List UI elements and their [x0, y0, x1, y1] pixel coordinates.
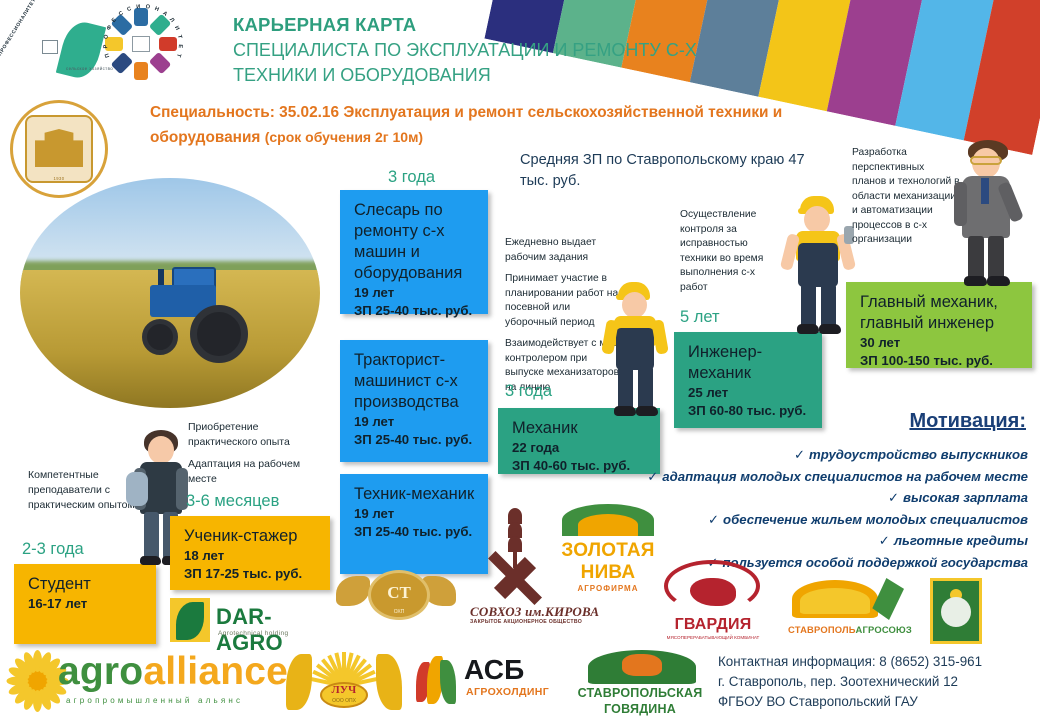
- logo-stavropol-agrosouz: СТАВРОПОЛЬАГРОСОЮЗ: [788, 578, 912, 642]
- contact-org-line: ФГБОУ ВО Ставропольский ГАУ: [718, 692, 1038, 712]
- card-student-role: Студент: [28, 574, 144, 595]
- card-technician-role: Техник-механик: [354, 484, 476, 505]
- chief-tie: [981, 178, 989, 204]
- trade-oval: СТ ОХП: [368, 570, 430, 620]
- wheel-arc-letter: О: [145, 4, 150, 10]
- wheel-arc-letter: Е: [111, 17, 118, 24]
- chief-shoe-left: [964, 276, 987, 286]
- wheel-arc-letter: Т: [175, 53, 182, 58]
- trade-monogram: СТ: [371, 583, 427, 603]
- engineer-leg-left: [801, 284, 816, 328]
- wheel-arc-letter: С: [126, 6, 132, 13]
- logo-asb: АСБ АГРОХОЛДИНГ: [416, 652, 556, 710]
- card-trainee[interactable]: Ученик-стажер 18 лет ЗП 17-25 тыс. руб.: [170, 516, 330, 590]
- motivation-title: Мотивация:: [909, 410, 1026, 433]
- card-technician-age: 19 лет: [354, 505, 476, 523]
- student-head: [148, 436, 174, 464]
- chief-illustration: [948, 140, 1026, 290]
- wheel-arc-letter: П: [104, 53, 111, 59]
- page-subtitle: СПЕЦИАЛИСТА ПО ЭКСПЛУАТАЦИИ И РЕМОНТУ С-…: [233, 38, 713, 88]
- mechanic-shoe-left: [614, 406, 636, 416]
- trainee-note-2: Адаптация на рабочем месте: [188, 457, 318, 487]
- tractor-rear-wheel: [190, 305, 248, 363]
- card-engineer-age: 25 лет: [688, 384, 810, 402]
- wheel-arc-letter: Ф: [106, 24, 113, 31]
- mechanic-duty-1: Ежедневно выдает рабочим задания: [505, 236, 625, 265]
- wheel-arc-letter: Л: [168, 17, 175, 24]
- mechanic-leg-left: [618, 366, 633, 410]
- chief-arm-left: [954, 182, 967, 226]
- contact-address-line: г. Ставрополь, пер. Зоотехнический 12: [718, 672, 1038, 692]
- wheel-arc-letter: А: [161, 10, 168, 17]
- niva-line1: ЗОЛОТАЯ: [556, 540, 660, 562]
- wheel-arc-letter: Т: [176, 35, 183, 39]
- engineer-duty-1: Осуществление контроля за исправностью т…: [680, 208, 784, 295]
- gvardiya-name: ГВАРДИЯ: [660, 616, 766, 634]
- chief-duties: Разработка перспективных планов и технол…: [852, 146, 960, 255]
- motivation-item-text: адаптация молодых специалистов на рабоче…: [662, 469, 1028, 484]
- sovhoz-sub: ЗАКРЫТОЕ АКЦИОНЕРНОЕ ОБЩЕСТВО: [470, 619, 582, 625]
- logo-emblem-box: [42, 40, 58, 54]
- agroalliance-part2: alliance: [143, 650, 288, 693]
- card-engineer-role: Инженер-механик: [688, 342, 810, 384]
- card-tractor-driver-salary: ЗП 25-40 тыс. руб.: [354, 431, 476, 449]
- engineer-leg-right: [821, 284, 836, 328]
- card-tractor-driver-age: 19 лет: [354, 413, 476, 431]
- motivation-item-text: высокая зарплата: [903, 490, 1028, 505]
- motivation-item: ✓обеспечение жильем молодых специалистов: [608, 509, 1028, 531]
- minselhoz-shield-icon: [930, 578, 982, 644]
- motivation-item: ✓льготные кредиты: [608, 530, 1028, 552]
- chief-duty-1: Разработка перспективных планов и технол…: [852, 146, 960, 248]
- minselhoz-eagle-icon: [941, 597, 971, 627]
- check-icon: ✓: [708, 512, 719, 527]
- tractor-front-wheel: [142, 319, 178, 355]
- speciality-text-2: оборудования: [150, 129, 260, 146]
- contact-block: Контактная информация: 8 (8652) 315-961 …: [718, 652, 1038, 712]
- engineer-shoe-right: [819, 324, 841, 334]
- logo-prof-leaf-caption: ПРОФЕССИОНАЛИТЕТ: [0, 16, 75, 87]
- agrosouz-part2: АГРОСОЮЗ: [856, 624, 912, 635]
- card-chief-role-1: Главный механик,: [860, 292, 1020, 313]
- card-engineer[interactable]: Инженер-механик 25 лет ЗП 60-80 тыс. руб…: [674, 332, 822, 428]
- mechanic-illustration: [600, 282, 672, 420]
- card-locksmith-age: 19 лет: [354, 284, 476, 302]
- card-student[interactable]: Студент 16-17 лет: [14, 564, 156, 644]
- sovhoz-wheat-icon: [504, 508, 526, 564]
- wheel-arc-letter: Н: [154, 6, 160, 13]
- check-icon: ✓: [888, 490, 899, 505]
- luch-sub: ООО ОПХ: [320, 698, 368, 704]
- govyadina-cow-icon: [622, 654, 662, 676]
- speciality-duration: (срок обучения 2г 10м): [265, 129, 423, 145]
- engineer-overalls: [798, 243, 838, 287]
- tractor-illustration: [128, 279, 246, 351]
- motivation-item: ✓трудоустройство выпускников: [608, 444, 1028, 466]
- logo-zolotaya-niva: ЗОЛОТАЯ НИВА АГРОФИРМА: [548, 504, 668, 600]
- card-tractor-driver-role: Тракторист-машинист с-х производства: [354, 350, 476, 413]
- logo-stavropol-trade: СТ ОХП: [336, 562, 456, 624]
- card-locksmith-role: Слесарь по ремонту с-х машин и оборудова…: [354, 200, 476, 284]
- sovhoz-name: СОВХОЗ им.КИРОВА: [470, 604, 599, 620]
- mechanic-years: 3 года: [505, 382, 552, 401]
- agroalliance-part1: agro: [58, 650, 143, 693]
- card-trainee-salary: ЗП 17-25 тыс. руб.: [184, 565, 318, 583]
- card-technician[interactable]: Техник-механик 19 лет ЗП 25-40 тыс. руб.: [340, 474, 488, 574]
- motivation-item-text: пользуется особой поддержкой государства: [722, 555, 1028, 570]
- logo-minselhoz: [930, 578, 982, 644]
- wheel-arc-letter: И: [136, 4, 141, 10]
- motivation-item: ✓адаптация молодых специалистов на рабоч…: [608, 466, 1028, 488]
- chief-leg-right: [988, 236, 1004, 280]
- card-trainee-role: Ученик-стажер: [184, 526, 318, 547]
- asb-name: АСБ: [464, 654, 524, 686]
- card-locksmith-salary: ЗП 25-40 тыс. руб.: [354, 302, 476, 320]
- logo-professionalitet-wheel: ПРОФЕССИОНАЛИТЕТ: [105, 8, 177, 80]
- engineer-shoe-left: [797, 324, 819, 334]
- chief-shoe-right: [987, 276, 1010, 286]
- trade-wing-left: [336, 576, 370, 606]
- speciality-text-1: Специальность: 35.02.16 Эксплуатация и р…: [150, 104, 782, 121]
- asb-sub: АГРОХОЛДИНГ: [466, 686, 549, 698]
- trade-sub: ОХП: [371, 609, 427, 615]
- wheel-arc-letter: И: [173, 25, 180, 31]
- niva-line2: НИВА: [556, 562, 660, 584]
- engineer-years: 5 лет: [680, 308, 720, 327]
- logo-luch: ЛУЧ ООО ОПХ: [286, 648, 402, 718]
- luch-name: ЛУЧ: [320, 684, 368, 696]
- card-trainee-age: 18 лет: [184, 547, 318, 565]
- logo-agroalliance: agroalliance агропромышленный альянс: [6, 646, 256, 712]
- contact-phone-line: Контактная информация: 8 (8652) 315-961: [718, 652, 1038, 672]
- card-engineer-salary: ЗП 60-80 тыс. руб.: [688, 402, 810, 420]
- card-locksmith[interactable]: Слесарь по ремонту с-х машин и оборудова…: [340, 190, 488, 314]
- glasses-icon: [970, 156, 1002, 165]
- poster-canvas: КАРЬЕРНАЯ КАРТА СПЕЦИАЛИСТА ПО ЭКСПЛУАТА…: [0, 0, 1040, 720]
- student-years: 2-3 года: [22, 540, 84, 559]
- average-salary-note: Средняя ЗП по Ставропольскому краю 47 ты…: [520, 150, 820, 192]
- card-chief[interactable]: Главный механик, главный инженер 30 лет …: [846, 282, 1032, 368]
- trainee-years: 3-6 месяцев: [186, 492, 279, 511]
- check-icon: ✓: [879, 533, 890, 548]
- logo-gvardiya: ГВАРДИЯ МЯСОПЕРЕРАБАТЫВАЮЩИЙ КОМБИНАТ: [660, 560, 766, 652]
- logo-stav-govyadina: СТАВРОПОЛЬСКАЯ ГОВЯДИНА: [570, 650, 710, 716]
- card-chief-age: 30 лет: [860, 334, 1020, 352]
- student-shoe-left: [140, 556, 161, 565]
- card-chief-role-2: главный инженер: [860, 313, 1020, 334]
- speciality-line: Специальность: 35.02.16 Эксплуатация и р…: [150, 100, 890, 150]
- check-icon: ✓: [647, 469, 658, 484]
- dar-agro-tagline: Agrotechnical holding: [218, 630, 289, 637]
- wheel-arc-letter: О: [103, 34, 110, 39]
- trainee-note-1: Приобретение практического опыта: [188, 420, 318, 450]
- student-backpack: [126, 472, 148, 506]
- motivation-item: ✓высокая зарплата: [608, 487, 1028, 509]
- engineer-head: [804, 206, 830, 233]
- agroalliance-sub: агропромышленный альянс: [66, 696, 243, 705]
- mechanic-head: [622, 292, 647, 318]
- mechanic-overalls: [616, 328, 654, 370]
- logo-wheel-arc-text: ПРОФЕССИОНАЛИТЕТ: [103, 4, 183, 84]
- wheel-arc-letter: Е: [177, 44, 183, 48]
- asb-leaf-icon: [416, 654, 458, 704]
- motivation-list: ✓трудоустройство выпускников ✓адаптация …: [608, 444, 1028, 573]
- check-icon: ✓: [794, 447, 805, 462]
- card-student-age: 16-17 лет: [28, 595, 144, 613]
- engineer-duties: Осуществление контроля за исправностью т…: [680, 208, 784, 302]
- student-leg-left: [144, 512, 159, 560]
- card-technician-salary: ЗП 25-40 тыс. руб.: [354, 523, 476, 541]
- wheel-arc-letter: Р: [103, 44, 109, 48]
- card-chief-salary: ЗП 100-150 тыс. руб.: [860, 352, 1020, 370]
- blue-group-years: 3 года: [388, 168, 435, 187]
- govyadina-line2: ГОВЯДИНА: [570, 702, 710, 716]
- niva-sub: АГРОФИРМА: [556, 584, 660, 593]
- logo-dar-agro: DAR-AGRO Agrotechnical holding: [170, 596, 320, 644]
- chief-leg-left: [968, 236, 984, 280]
- dar-agro-leaf-icon: [170, 598, 210, 642]
- tractor-photo: [20, 178, 320, 408]
- mechanic-shoe-right: [636, 406, 658, 416]
- logo-professionalitet-leaf: ПРОФЕССИОНАЛИТЕТ сельское хозяйство: [14, 16, 114, 88]
- engineer-illustration: [782, 196, 856, 336]
- mechanic-leg-right: [638, 366, 653, 410]
- motivation-item-text: льготные кредиты: [894, 533, 1028, 548]
- card-tractor-driver[interactable]: Тракторист-машинист с-х производства 19 …: [340, 340, 488, 462]
- card-mechanic-role: Механик: [512, 418, 648, 439]
- motivation-item-text: обеспечение жильем молодых специалистов: [723, 512, 1028, 527]
- motivation-item-text: трудоустройство выпускников: [809, 447, 1028, 462]
- agrosouz-part1: СТАВРОПОЛЬ: [788, 624, 856, 635]
- trainee-notes: Приобретение практического опыта Адаптац…: [188, 420, 318, 494]
- gvardiya-sub: МЯСОПЕРЕРАБАТЫВАЮЩИЙ КОМБИНАТ: [660, 634, 766, 641]
- govyadina-line1: СТАВРОПОЛЬСКАЯ: [570, 686, 710, 700]
- page-title: КАРЬЕРНАЯ КАРТА: [233, 14, 703, 36]
- wheel-arc-letter: С: [118, 10, 125, 17]
